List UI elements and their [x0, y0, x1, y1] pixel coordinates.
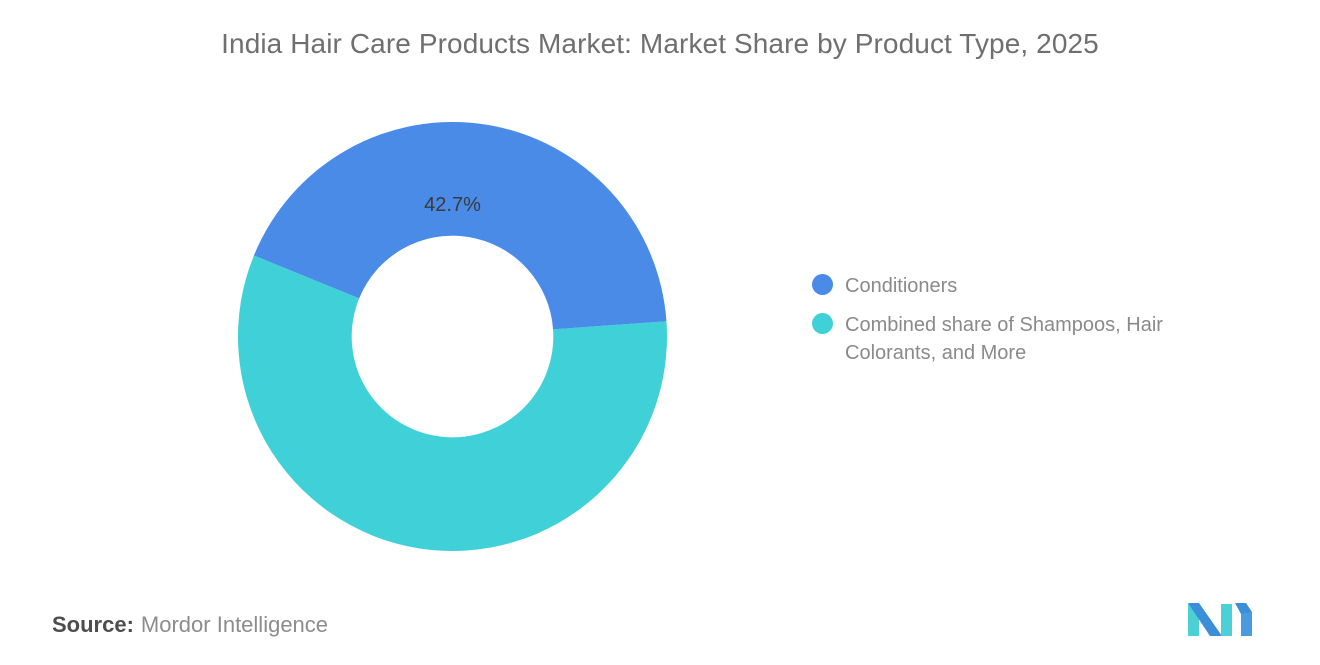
donut-chart-svg [238, 122, 667, 551]
page-title: India Hair Care Products Market: Market … [0, 28, 1320, 60]
legend-swatch-icon [812, 313, 833, 334]
legend-item-combined[interactable]: Combined share of Shampoos, Hair Coloran… [812, 311, 1232, 367]
donut-chart: 42.7% [238, 122, 667, 551]
source-value: Mordor Intelligence [141, 612, 328, 637]
mi-logo-svg [1186, 598, 1254, 638]
legend-item-label: Conditioners [845, 272, 957, 300]
source-line: Source:Mordor Intelligence [52, 612, 328, 638]
legend-item-label: Combined share of Shampoos, Hair Coloran… [845, 311, 1215, 367]
mordor-intelligence-logo-icon [1186, 598, 1254, 638]
source-label: Source: [52, 612, 134, 637]
legend-swatch-icon [812, 274, 833, 295]
chart-legend: Conditioners Combined share of Shampoos,… [812, 272, 1232, 378]
legend-item-conditioners[interactable]: Conditioners [812, 272, 1232, 300]
